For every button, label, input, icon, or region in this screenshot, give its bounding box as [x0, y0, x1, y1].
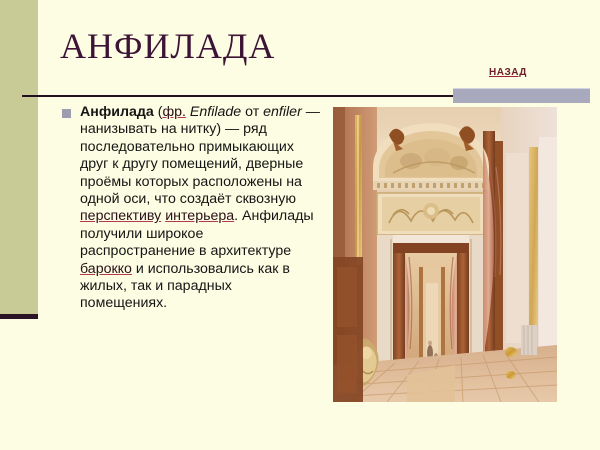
perspective-link[interactable]: перспективу: [80, 208, 161, 224]
back-link-plate: [453, 88, 590, 103]
content-block: Анфилада (фр. Enfilade от enfiler — нани…: [62, 104, 320, 313]
enfilade-photograph-artwork: [333, 107, 557, 402]
slide-canvas: АНФИЛАДА НАЗАД Анфилада (фр. Enfilade от…: [0, 0, 600, 450]
language-abbr-link[interactable]: фр.: [162, 104, 186, 120]
foreign-term: Enfilade: [190, 104, 241, 120]
square-bullet-icon: [62, 109, 71, 118]
foreign-verb: enfiler: [263, 104, 302, 120]
from-word: от: [241, 104, 263, 120]
baroque-link[interactable]: барокко: [80, 261, 132, 277]
page-title: АНФИЛАДА: [60, 28, 275, 66]
interior-link[interactable]: интерьера: [165, 208, 234, 224]
back-navigation-link[interactable]: НАЗАД: [489, 67, 527, 78]
left-decorative-band: [0, 0, 38, 314]
bullet-list-item: Анфилада (фр. Enfilade от enfiler — нани…: [62, 104, 320, 313]
definition-paragraph: Анфилада (фр. Enfilade от enfiler — нани…: [80, 104, 320, 313]
term-label: Анфилада: [80, 104, 154, 120]
left-band-end-cap: [0, 314, 38, 319]
enfilade-photograph: [333, 107, 557, 402]
